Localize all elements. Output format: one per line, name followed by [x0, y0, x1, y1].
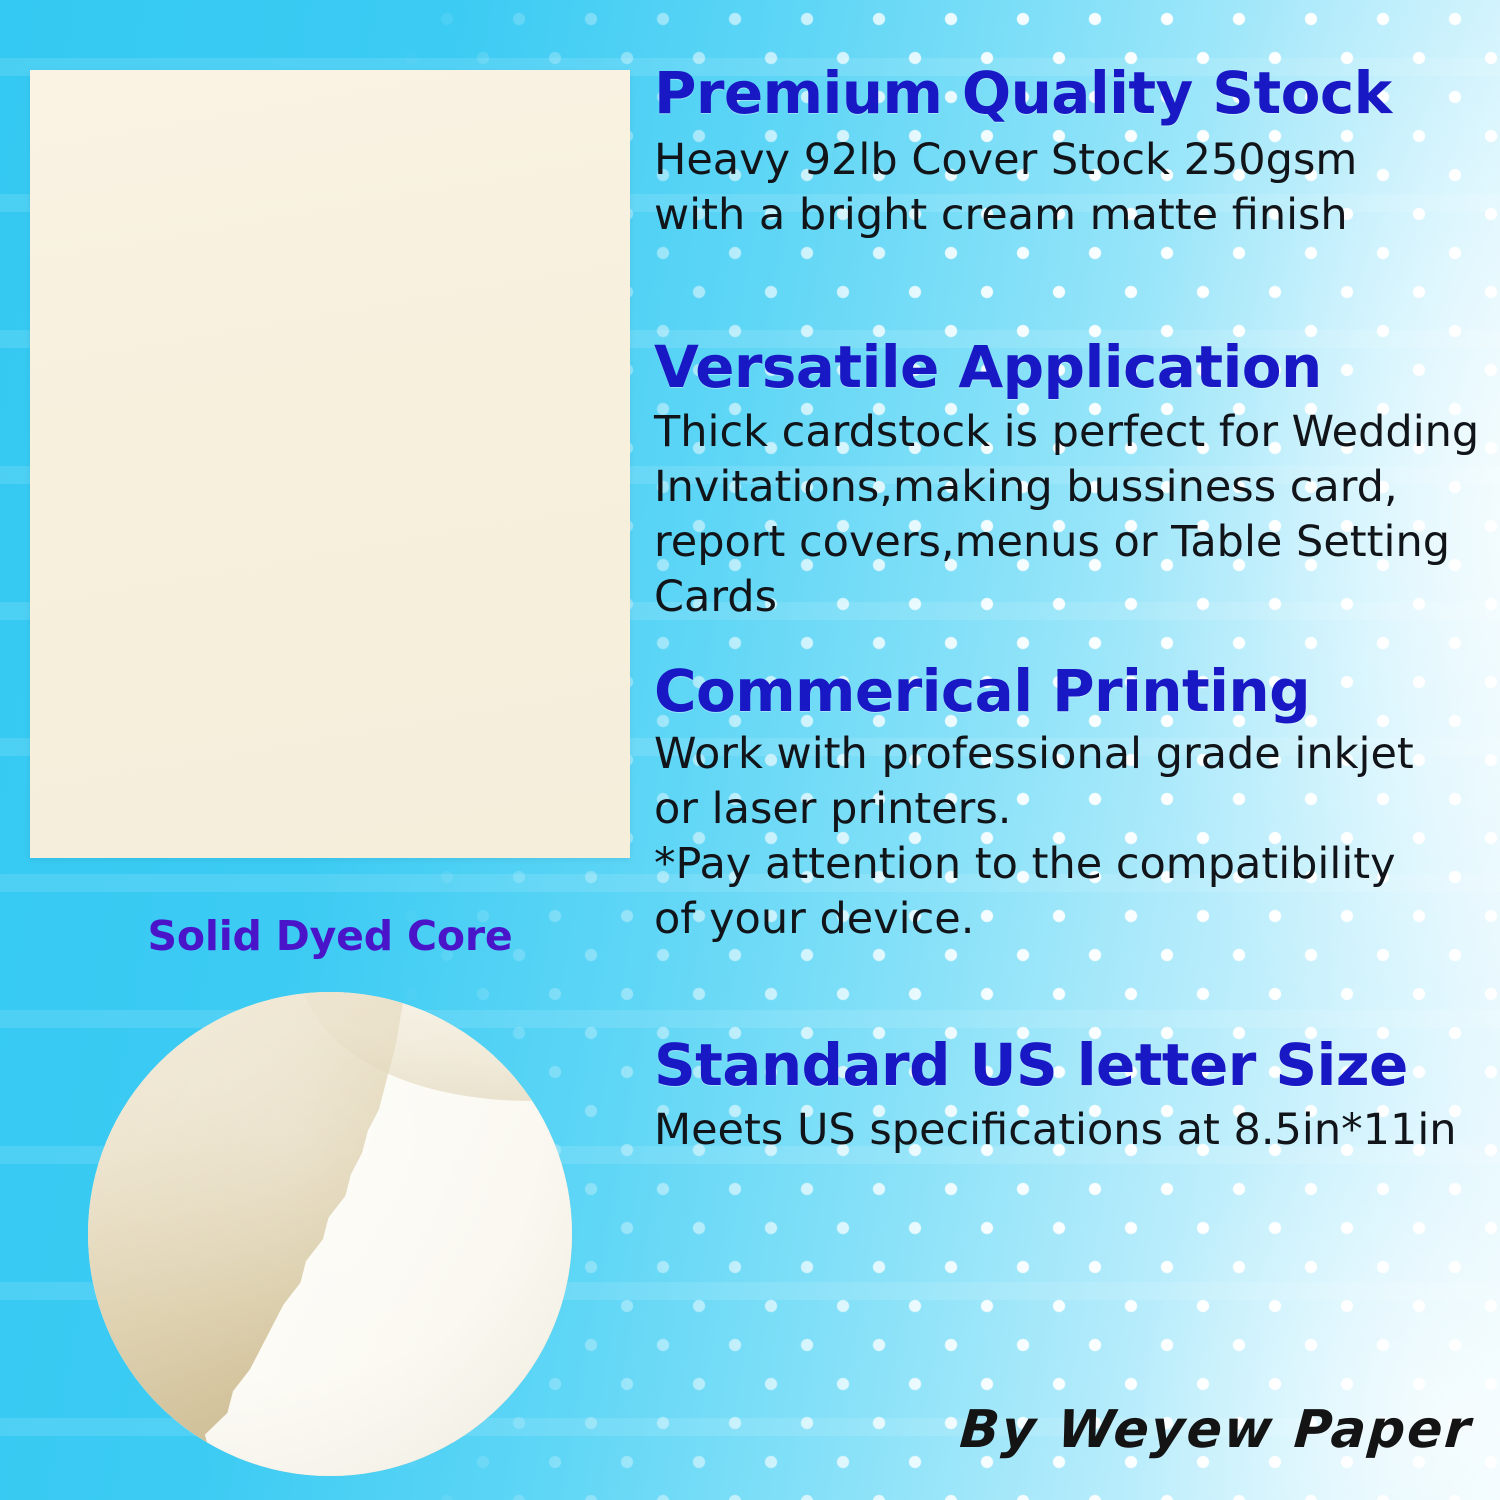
feature-body-line: or laser printers. — [654, 782, 1500, 837]
feature-block-standard-us-letter-size: Standard US letter Size Meets US specifi… — [654, 1036, 1500, 1158]
feature-body: Meets US specifications at 8.5in*11in — [654, 1103, 1500, 1158]
feature-heading: Standard US letter Size — [654, 1036, 1500, 1095]
feature-body-line: *Pay attention to the compatibility — [654, 837, 1500, 892]
brand-signature: By Weyew Paper — [958, 1400, 1474, 1460]
feature-body-line: Work with professional grade inkjet — [654, 727, 1500, 782]
torn-edge-photo-circle — [88, 992, 572, 1476]
feature-body-line: Invitations,making bussiness card, — [654, 460, 1500, 515]
product-feature-poster: Solid Dyed Core Premium Quality Stock He… — [0, 0, 1500, 1500]
feature-heading: Versatile Application — [654, 338, 1500, 397]
feature-body-line: Meets US specifications at 8.5in*11in — [654, 1103, 1500, 1158]
feature-body-line: with a bright cream matte finish — [654, 188, 1500, 243]
feature-body-line: Cards — [654, 570, 1500, 625]
feature-block-commerical-printing: Commerical Printing Work with profession… — [654, 662, 1500, 947]
cream-cardstock-swatch — [30, 70, 630, 858]
feature-heading: Premium Quality Stock — [654, 64, 1500, 123]
photo-vignette — [88, 992, 572, 1476]
feature-body-line: of your device. — [654, 892, 1500, 947]
feature-body-line: report covers,menus or Table Setting — [654, 515, 1500, 570]
feature-body-line: Thick cardstock is perfect for Wedding — [654, 405, 1500, 460]
feature-list: Premium Quality Stock Heavy 92lb Cover S… — [654, 0, 1500, 1500]
feature-body: Heavy 92lb Cover Stock 250gsm with a bri… — [654, 133, 1500, 243]
feature-body: Thick cardstock is perfect for Wedding I… — [654, 405, 1500, 625]
feature-body: Work with professional grade inkjet or l… — [654, 727, 1500, 947]
feature-heading: Commerical Printing — [654, 662, 1500, 721]
feature-block-premium-quality-stock: Premium Quality Stock Heavy 92lb Cover S… — [654, 64, 1500, 243]
feature-body-line: Heavy 92lb Cover Stock 250gsm — [654, 133, 1500, 188]
solid-dyed-core-label: Solid Dyed Core — [30, 912, 630, 960]
feature-block-versatile-application: Versatile Application Thick cardstock is… — [654, 338, 1500, 625]
